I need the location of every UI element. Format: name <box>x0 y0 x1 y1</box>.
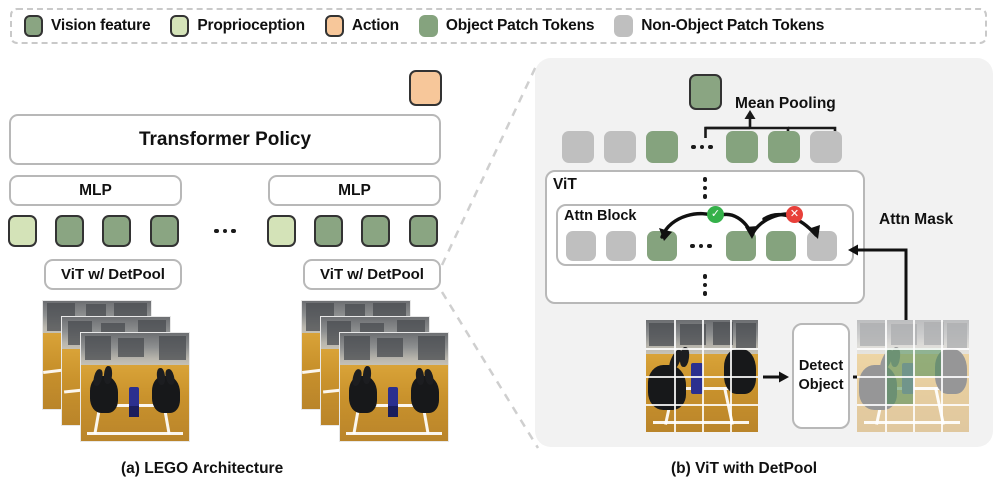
mlp-box-right: MLP <box>268 175 441 206</box>
token-groups-ellipsis <box>203 225 247 237</box>
swatch-vision-feature-icon <box>24 15 43 37</box>
attn-mask-path <box>838 238 948 333</box>
non-object-patch-token <box>562 131 594 163</box>
vit-detpool-label: ViT w/ DetPool <box>61 266 165 283</box>
swatch-action-icon <box>325 15 344 37</box>
attention-blocked-icon: ✕ <box>786 206 803 223</box>
vision-feature-token <box>314 215 343 247</box>
mean-pooling-label: Mean Pooling <box>735 95 836 113</box>
swatch-object-patch-tokens-icon <box>419 15 438 37</box>
panel-b-caption: (b) ViT with DetPool <box>671 460 817 478</box>
object-patch-token <box>768 131 800 163</box>
observation-image-stack-right <box>301 300 449 442</box>
mlp-label: MLP <box>338 182 371 200</box>
input-patch-image <box>646 320 758 432</box>
action-token <box>409 70 442 106</box>
non-object-patch-token <box>606 231 636 261</box>
legend-item-vision-feature: Vision feature <box>24 15 150 37</box>
legend-item-action: Action <box>325 15 399 37</box>
attention-arcs <box>640 203 840 245</box>
non-object-patch-token <box>604 131 636 163</box>
object-patch-token <box>726 131 758 163</box>
token-row-ellipsis <box>684 141 720 153</box>
legend-label: Non-Object Patch Tokens <box>641 17 824 35</box>
proprioception-token <box>267 215 296 247</box>
mask-cell-highlight <box>885 376 913 404</box>
vision-feature-token <box>150 215 179 247</box>
legend-bar: Vision feature Proprioception Action Obj… <box>10 8 987 44</box>
legend-item-proprioception: Proprioception <box>170 15 304 37</box>
transformer-policy-label: Transformer Policy <box>139 129 311 151</box>
swatch-non-object-patch-tokens-icon <box>614 15 633 37</box>
detect-object-label-line2: Object <box>798 376 843 395</box>
non-object-patch-token <box>810 131 842 163</box>
vit-detpool-box-right: ViT w/ DetPool <box>303 259 441 290</box>
vit-detpool-box-left: ViT w/ DetPool <box>44 259 182 290</box>
vit-ellipsis-bottom <box>701 274 709 298</box>
legend-label: Object Patch Tokens <box>446 17 594 35</box>
arrow-to-detect-object <box>763 370 791 384</box>
mask-cell-highlight <box>913 348 941 376</box>
attn-mask-label-line1: Attn Mask <box>879 210 939 229</box>
detect-object-box: Detect Object <box>792 323 850 429</box>
detect-object-label-line1: Detect <box>799 357 843 376</box>
legend-item-object-patch-tokens: Object Patch Tokens <box>419 15 594 37</box>
object-patch-token <box>646 131 678 163</box>
proprioception-token <box>8 215 37 247</box>
dashed-connectors <box>440 60 550 460</box>
panel-a-caption: (a) LEGO Architecture <box>121 460 283 478</box>
observation-image-stack-left <box>42 300 190 442</box>
mlp-box-left: MLP <box>9 175 182 206</box>
legend-label: Vision feature <box>51 17 150 35</box>
swatch-proprioception-icon <box>170 15 189 37</box>
object-mask-image <box>857 320 969 432</box>
vit-label: ViT <box>553 176 577 194</box>
mlp-label: MLP <box>79 182 112 200</box>
vit-detpool-label: ViT w/ DetPool <box>320 266 424 283</box>
observation-image <box>80 332 190 442</box>
observation-image <box>339 332 449 442</box>
vision-feature-token <box>102 215 131 247</box>
attention-allowed-icon: ✓ <box>707 206 724 223</box>
vision-feature-token <box>409 215 438 247</box>
legend-label: Action <box>352 17 399 35</box>
vit-ellipsis-top <box>701 177 709 201</box>
legend-label: Proprioception <box>197 17 304 35</box>
legend-item-non-object-patch-tokens: Non-Object Patch Tokens <box>614 15 824 37</box>
pooled-vision-token <box>689 74 722 110</box>
vision-feature-token <box>55 215 84 247</box>
vision-feature-token <box>361 215 390 247</box>
attn-block-label: Attn Block <box>564 208 637 224</box>
non-object-patch-token <box>566 231 596 261</box>
transformer-policy-box: Transformer Policy <box>9 114 441 165</box>
mask-cell-highlight <box>885 348 913 376</box>
